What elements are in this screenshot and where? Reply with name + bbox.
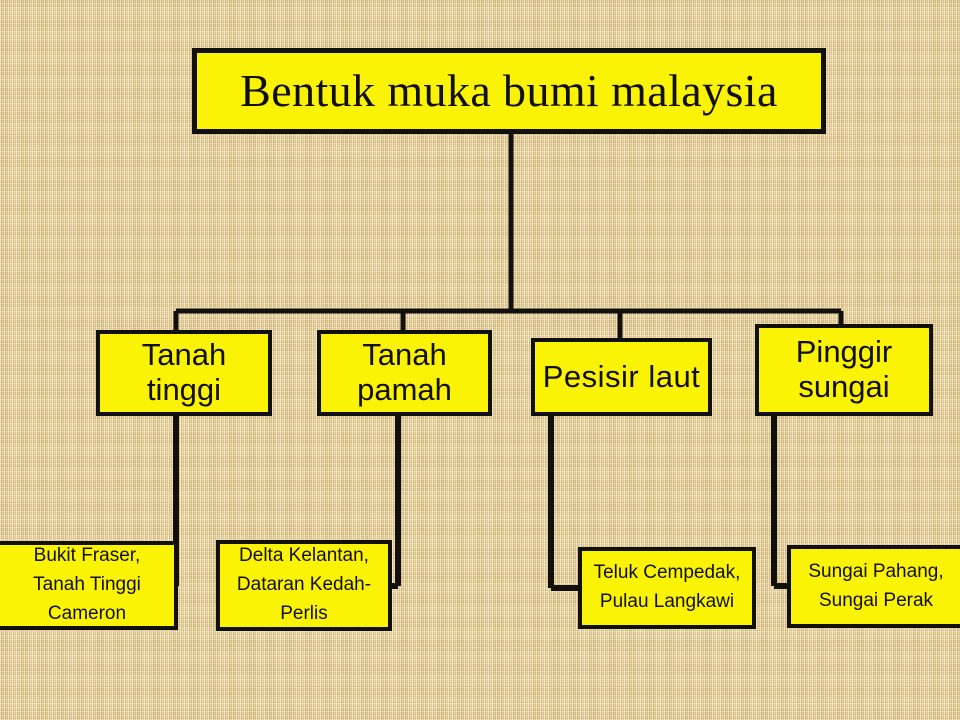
branch-label-line-1: Pinggir bbox=[796, 335, 893, 370]
leaf-label-line-2: Tanah Tinggi bbox=[33, 571, 141, 600]
branch-box-tanah-tinggi: Tanah tinggi bbox=[96, 330, 272, 416]
slide-canvas: Bentuk muka bumi malaysia Tanah tinggi T… bbox=[0, 0, 960, 720]
diagram-title-label: Bentuk muka bumi malaysia bbox=[240, 67, 778, 115]
leaf-label-line-3: Cameron bbox=[48, 600, 126, 629]
leaf-box-teluk-cempedak: Teluk Cempedak, Pulau Langkawi bbox=[578, 547, 756, 629]
leaf-box-delta-kelantan: Delta Kelantan, Dataran Kedah- Perlis bbox=[216, 540, 392, 631]
leaf-label-line-2: Pulau Langkawi bbox=[600, 588, 734, 617]
branch-label-line-1: Tanah bbox=[362, 338, 446, 373]
branch-box-tanah-pamah: Tanah pamah bbox=[317, 330, 492, 416]
branch-label-line-2: sungai bbox=[798, 370, 889, 405]
diagram-title-box: Bentuk muka bumi malaysia bbox=[192, 48, 826, 134]
leaf-label-line-1: Bukit Fraser, bbox=[34, 542, 141, 571]
leaf-box-bukit-fraser: Bukit Fraser, Tanah Tinggi Cameron bbox=[0, 541, 178, 630]
leaf-label-line-2: Sungai Perak bbox=[819, 587, 933, 616]
leaf-label-line-1: Delta Kelantan, bbox=[239, 542, 369, 571]
branch-label-line-1: Tanah bbox=[142, 338, 226, 373]
leaf-label-line-1: Teluk Cempedak, bbox=[594, 559, 741, 588]
leaf-label-line-1: Sungai Pahang, bbox=[808, 558, 943, 587]
branch-box-pesisir-laut: Pesisir laut bbox=[531, 338, 712, 416]
branch-label-line-2: pamah bbox=[357, 373, 452, 408]
branch-box-pinggir-sungai: Pinggir sungai bbox=[755, 324, 933, 416]
leaf-label-line-2: Dataran Kedah- bbox=[237, 571, 371, 600]
leaf-label-line-3: Perlis bbox=[280, 600, 328, 629]
leaf-box-sungai-pahang: Sungai Pahang, Sungai Perak bbox=[787, 545, 960, 628]
branch-label-line-2: tinggi bbox=[147, 373, 221, 408]
branch-label-line-1: Pesisir laut bbox=[543, 360, 701, 395]
